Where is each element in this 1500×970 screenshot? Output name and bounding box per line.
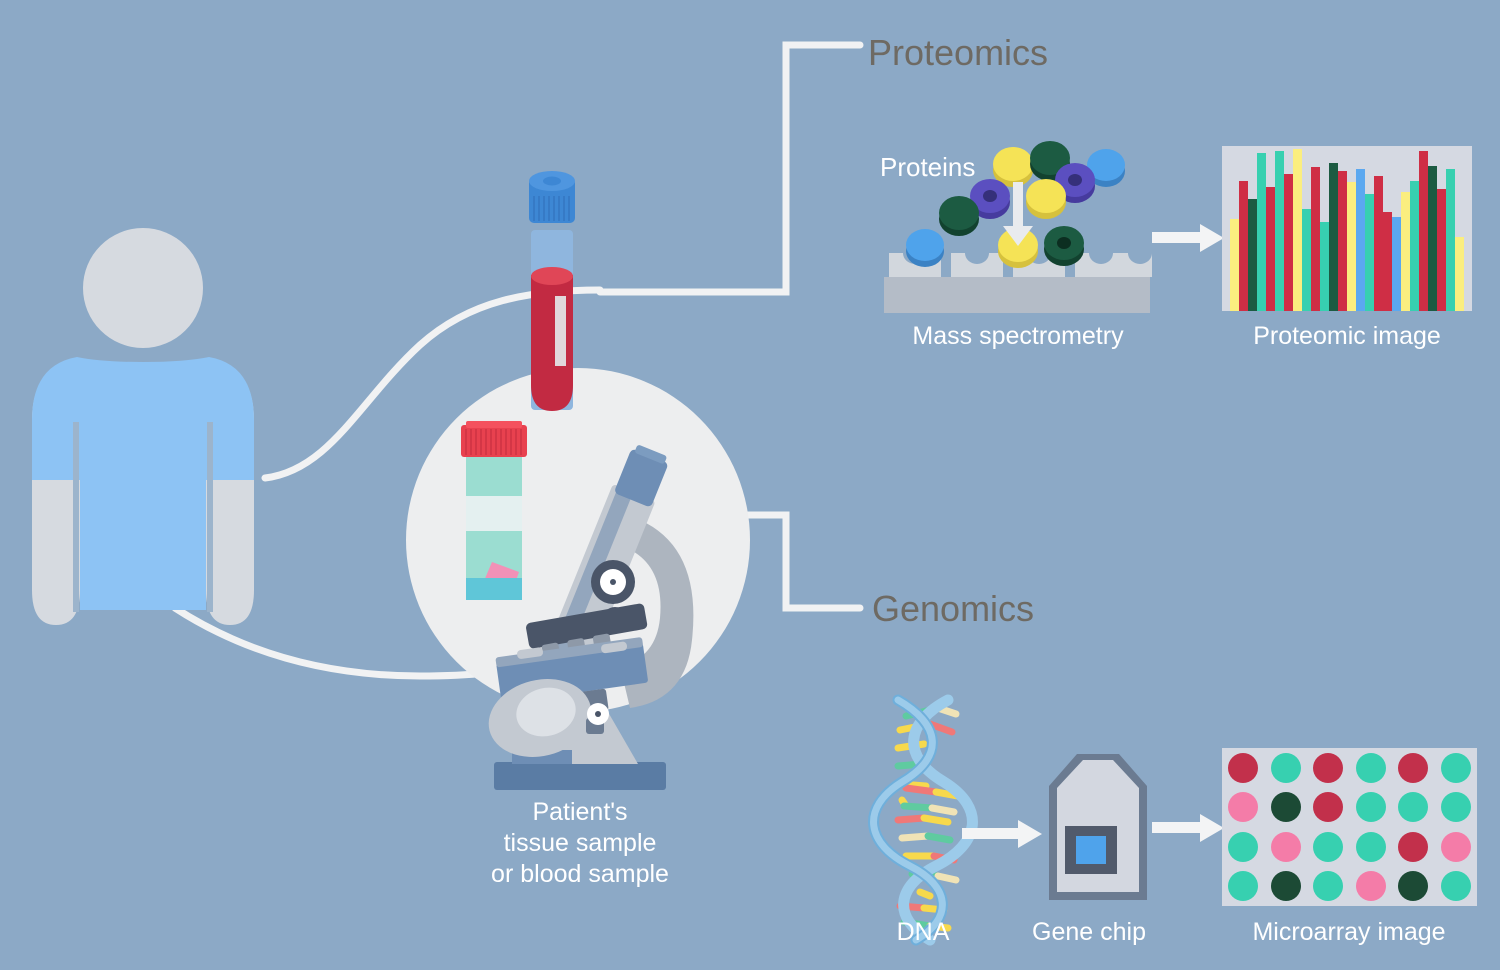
microarray-dot: [1313, 753, 1343, 783]
protein-disc-blue: [906, 229, 944, 267]
microscope-base: [494, 762, 666, 790]
arrow-massspec-to-proteomic-image: [1152, 224, 1224, 252]
patient-figure: [32, 228, 254, 625]
blood-tube-blood: [531, 275, 573, 411]
blood-tube-highlight: [555, 296, 566, 366]
tissue-tube-cap-lip: [466, 421, 522, 428]
microarray-cell: [1435, 788, 1478, 828]
bar: [1311, 167, 1320, 311]
bar: [1329, 163, 1338, 312]
mass-spec-platform: [884, 277, 1150, 313]
bar: [1428, 166, 1437, 311]
microarray-image-label: Microarray image: [1252, 918, 1445, 947]
microarray-cell: [1307, 748, 1350, 788]
microarray-dot: [1398, 871, 1428, 901]
bar: [1347, 182, 1356, 311]
microarray-dot: [1356, 753, 1386, 783]
microarray-dot: [1228, 792, 1258, 822]
bar: [1266, 187, 1275, 311]
microarray-cell: [1265, 867, 1308, 907]
tissue-tube-sediment: [466, 578, 522, 600]
bar: [1284, 174, 1293, 311]
bar: [1401, 192, 1410, 311]
patient-sleeve-line-right: [207, 422, 213, 612]
microarray-dot: [1228, 871, 1258, 901]
sample-caption-line-3: or blood sample: [491, 859, 669, 890]
proteins-label: Proteins: [880, 152, 975, 183]
gene-chip-icon: [1049, 754, 1147, 900]
bar: [1302, 209, 1311, 311]
bar: [1437, 189, 1446, 311]
bar: [1320, 222, 1329, 311]
microarray-cell: [1265, 748, 1308, 788]
bar: [1356, 169, 1365, 311]
microarray-dot: [1398, 832, 1428, 862]
bar: [1257, 153, 1266, 311]
microarray-dot: [1441, 753, 1471, 783]
bar: [1293, 149, 1302, 311]
microarray-dot: [1271, 832, 1301, 862]
sample-caption: Patient's tissue sample or blood sample: [491, 797, 669, 890]
protein-disc-green: [939, 196, 979, 236]
mass-spec-well: [1075, 253, 1127, 277]
bar: [1248, 199, 1257, 311]
bar: [1338, 171, 1347, 311]
microarray-dot: [1313, 792, 1343, 822]
dna-label: DNA: [897, 918, 950, 947]
bar: [1446, 169, 1455, 311]
microarray-dot: [1271, 871, 1301, 901]
bar: [1392, 217, 1401, 311]
microarray-cell: [1222, 748, 1265, 788]
mass-spec-well: [951, 253, 1003, 277]
bar: [1374, 176, 1383, 311]
microarray-cell: [1307, 827, 1350, 867]
arrow-genechip-to-microarray: [1152, 814, 1224, 842]
bar: [1419, 151, 1428, 311]
microarray-cell: [1392, 748, 1435, 788]
diagram-canvas: Proteomics Genomics Proteins Mass spectr…: [0, 0, 1500, 970]
microarray-dot: [1356, 871, 1386, 901]
microscope-coarse-knob-center: [610, 579, 616, 585]
microarray-dot: [1398, 753, 1428, 783]
bar: [1410, 181, 1419, 311]
mass-spec-well: [1124, 253, 1152, 277]
microarray-dot: [1441, 832, 1471, 862]
microarray-dot: [1356, 792, 1386, 822]
microarray-cell: [1392, 827, 1435, 867]
bar: [1455, 237, 1464, 311]
microarray-cell: [1307, 867, 1350, 907]
gene-chip-label: Gene chip: [1032, 918, 1146, 947]
bracket-proteomics: [600, 45, 860, 292]
bar: [1275, 151, 1284, 311]
microarray-cell: [1265, 788, 1308, 828]
blood-tube-cap-hole: [543, 177, 561, 186]
microarray-dot: [1271, 753, 1301, 783]
sample-caption-line-2: tissue sample: [491, 828, 669, 859]
microarray-cell: [1392, 788, 1435, 828]
microscope-light-switch-dot: [595, 711, 601, 717]
gene-chip-inner-square: [1076, 836, 1106, 864]
microarray-dot: [1313, 832, 1343, 862]
microarray-dot: [1441, 792, 1471, 822]
proteomic-image-chart: [1222, 146, 1472, 311]
section-title-genomics: Genomics: [872, 588, 1034, 630]
microarray-cell: [1350, 867, 1393, 907]
microarray-dot: [1228, 832, 1258, 862]
microarray-cell: [1350, 788, 1393, 828]
microarray-dot: [1356, 832, 1386, 862]
microarray-dot: [1313, 871, 1343, 901]
sample-caption-line-1: Patient's: [491, 797, 669, 828]
microarray-dot: [1398, 792, 1428, 822]
microarray-cell: [1350, 827, 1393, 867]
section-title-proteomics: Proteomics: [868, 32, 1048, 74]
microarray-cell: [1350, 748, 1393, 788]
mass-spectrometry-label: Mass spectrometry: [912, 322, 1123, 351]
microarray-dot: [1441, 871, 1471, 901]
protein-disc-yellow: [1026, 179, 1066, 219]
microarray-image-grid: [1222, 748, 1477, 906]
bar: [1239, 181, 1248, 311]
microarray-cell: [1435, 867, 1478, 907]
bar: [1365, 194, 1374, 311]
bar: [1230, 219, 1239, 311]
bar: [1383, 212, 1392, 311]
blood-tube-surface: [531, 267, 573, 285]
patient-sleeve-line-left: [73, 422, 79, 612]
tissue-tube-label-band: [466, 496, 522, 531]
proteomic-image-label: Proteomic image: [1253, 322, 1441, 351]
microarray-cell: [1435, 827, 1478, 867]
microarray-cell: [1265, 827, 1308, 867]
microarray-cell: [1222, 867, 1265, 907]
blood-sample-tube: [529, 171, 575, 411]
tissue-sample-container: [461, 421, 527, 600]
microarray-cell: [1435, 748, 1478, 788]
patient-head: [83, 228, 203, 348]
microarray-cell: [1222, 788, 1265, 828]
protein-disc-green-ring: [1044, 226, 1084, 266]
microarray-cell: [1392, 867, 1435, 907]
microarray-dot: [1271, 792, 1301, 822]
microarray-dot: [1228, 753, 1258, 783]
dna-helix-icon: [874, 700, 973, 940]
microarray-cell: [1307, 788, 1350, 828]
microarray-cell: [1222, 827, 1265, 867]
